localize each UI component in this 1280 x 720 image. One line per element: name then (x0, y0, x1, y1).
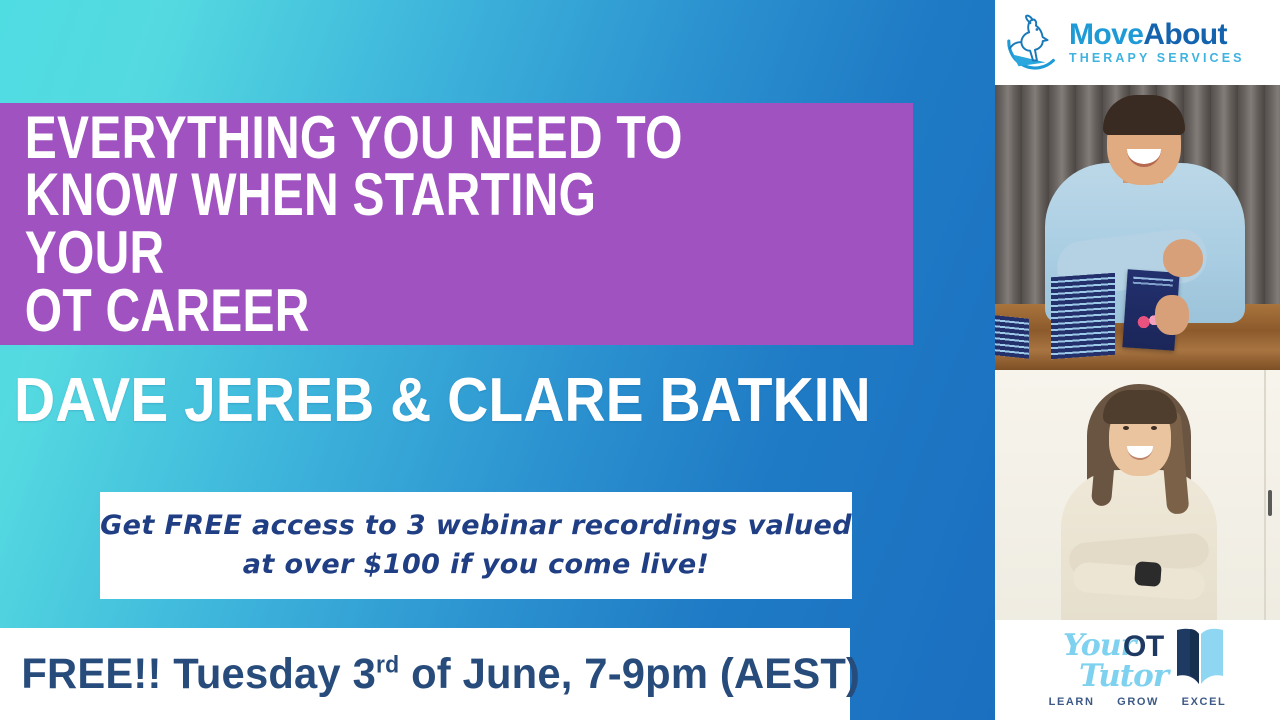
book-title-lines (1132, 277, 1173, 292)
offer-line-2: at over $100 if you come live! (243, 546, 710, 584)
left-content-panel: EVERYTHING YOU NEED TO KNOW WHEN STARTIN… (0, 0, 995, 720)
moveabout-name-move: Move (1069, 18, 1143, 51)
date-time-banner: FREE!! Tuesday 3rd of June, 7-9pm (AEST) (0, 628, 850, 720)
date-ordinal-suffix: rd (376, 652, 399, 678)
title-band: EVERYTHING YOU NEED TO KNOW WHEN STARTIN… (0, 103, 913, 345)
moveabout-name: MoveAbout (1069, 20, 1245, 50)
book-stack-side (995, 315, 1029, 359)
speaker-names: DAVE JEREB & CLARE BATKIN (14, 370, 879, 432)
your-ot-tutor-wordmark: Your OT Tutor (995, 620, 1280, 696)
date-prefix: FREE!! Tuesday 3 (21, 650, 376, 698)
offer-line-1: Get FREE access to 3 webinar recordings … (100, 507, 852, 545)
your-ot-tutor-logo: Your OT Tutor LEARN GROW EXCEL (995, 620, 1280, 720)
right-media-column: MoveAbout THERAPY SERVICES (995, 0, 1280, 720)
photo-clare-batkin (995, 370, 1280, 620)
tagline-excel: EXCEL (1182, 696, 1227, 708)
date-time-text: FREE!! Tuesday 3rd of June, 7-9pm (AEST) (0, 650, 860, 699)
clare-hair-front (1103, 390, 1177, 424)
date-middle: of June, 7-9pm (AEST) (399, 650, 860, 698)
dave-eye-left (1123, 131, 1130, 135)
door-edge (1264, 370, 1266, 620)
moveabout-wordmark: MoveAbout THERAPY SERVICES (1069, 20, 1245, 65)
clare-eye-left (1123, 426, 1129, 430)
tagline-grow: GROW (1117, 696, 1159, 708)
door-handle (1268, 490, 1272, 516)
dave-hand-upper (1163, 239, 1203, 277)
photo-dave-jereb (995, 85, 1280, 370)
offer-callout-box: Get FREE access to 3 webinar recordings … (100, 492, 852, 599)
page-title: EVERYTHING YOU NEED TO KNOW WHEN STARTIN… (0, 109, 730, 339)
moveabout-tagline: THERAPY SERVICES (1069, 52, 1245, 65)
moveabout-logo: MoveAbout THERAPY SERVICES (995, 0, 1280, 85)
tagline-learn: LEARN (1049, 696, 1095, 708)
tutor-word-tutor: Tutor (1079, 658, 1168, 694)
dave-hand-lower (1155, 295, 1189, 335)
your-ot-tutor-tagline: LEARN GROW EXCEL (995, 696, 1280, 708)
book-stack-main (1051, 273, 1115, 359)
open-book-icon (1173, 624, 1229, 692)
clare-eye-right (1151, 426, 1157, 430)
dave-eye-right (1155, 131, 1162, 135)
clare-wristwatch (1134, 561, 1162, 587)
moveabout-name-about: About (1143, 18, 1227, 51)
webinar-promo-poster: EVERYTHING YOU NEED TO KNOW WHEN STARTIN… (0, 0, 1280, 720)
kangaroo-icon (1003, 12, 1065, 74)
